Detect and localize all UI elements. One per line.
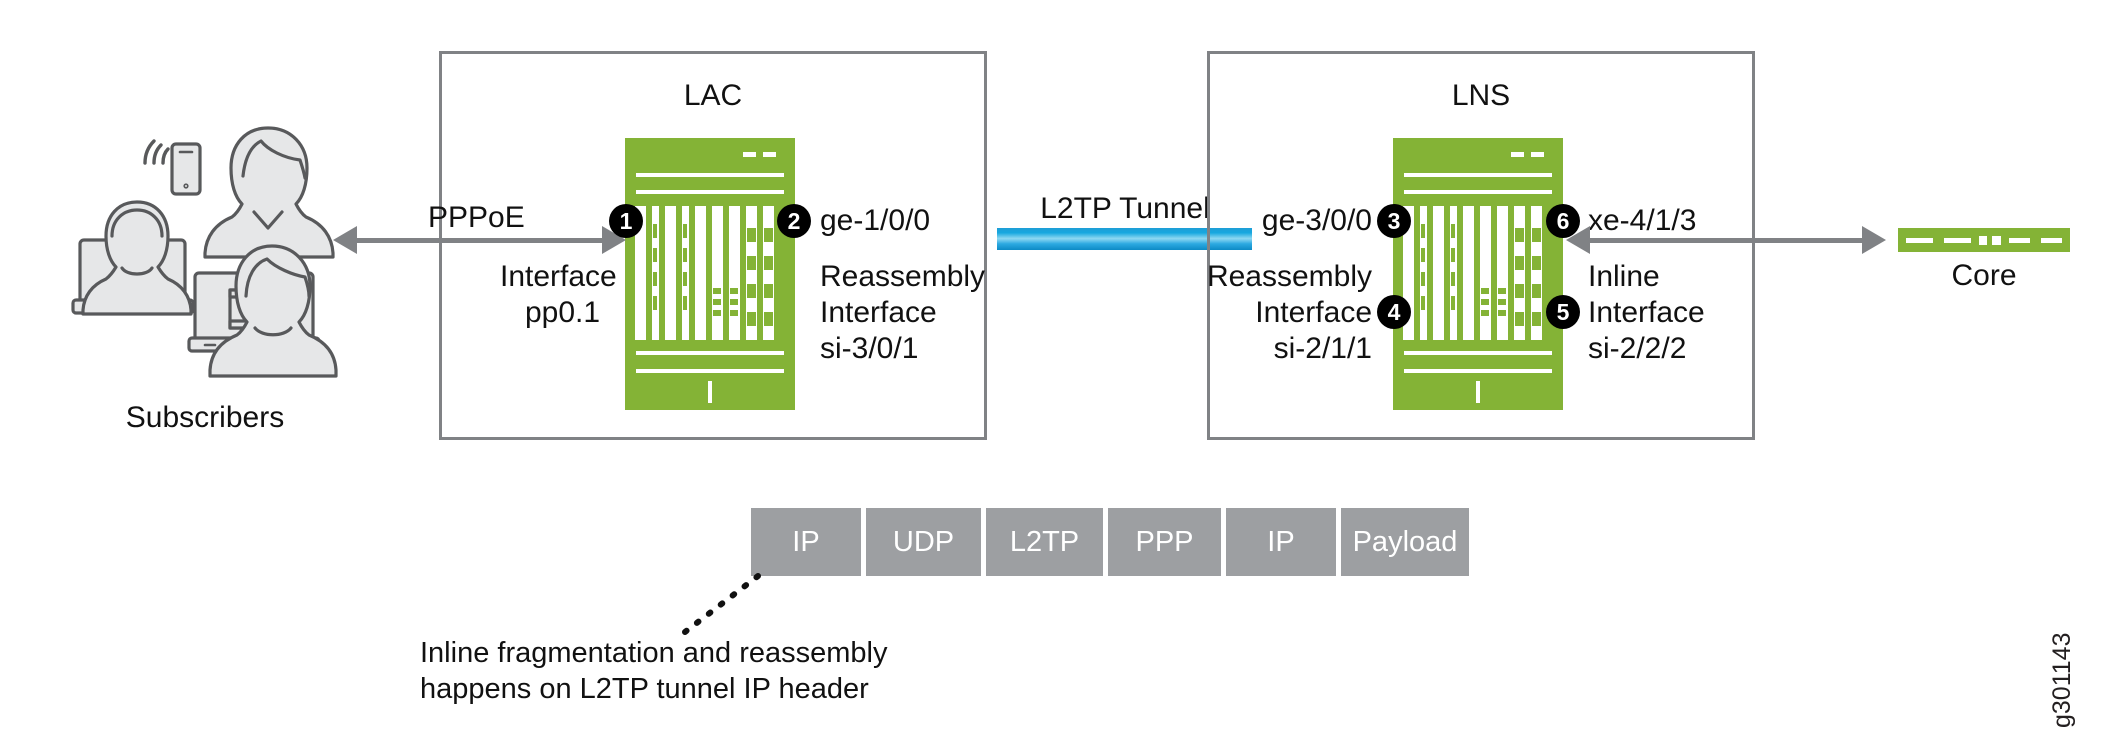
packet-field-l2tp: L2TP	[986, 508, 1103, 576]
core-label: Core	[1898, 258, 2070, 294]
packet-field-ppp: PPP	[1108, 508, 1221, 576]
lns-reassembly-line3: si-2/1/1	[1180, 331, 1372, 367]
pppoe-arrow-left	[333, 226, 357, 254]
subscribers-group	[55, 100, 355, 400]
core-led-2	[1992, 236, 2001, 245]
lac-title: LAC	[439, 78, 987, 114]
mobile-phone-icon	[172, 144, 200, 194]
packet-field-ip-outer: IP	[751, 508, 861, 576]
core-bar-4	[2038, 235, 2065, 246]
lac-reassembly-line3: si-3/0/1	[820, 331, 918, 367]
lns-interface-xe-4-1-3: xe-4/1/3	[1588, 203, 1696, 239]
subscribers-label: Subscribers	[60, 400, 350, 436]
lac-router-chassis	[625, 138, 795, 410]
core-arrow-right	[1862, 226, 1886, 254]
badge-6: 6	[1546, 204, 1580, 238]
lac-left-annotation-line2: pp0.1	[525, 295, 600, 331]
lns-inline-line2: Interface	[1588, 295, 1705, 331]
caption-line-1: Inline fragmentation and reassembly	[420, 636, 887, 671]
lac-reassembly-line1: Reassembly	[820, 259, 985, 295]
lns-reassembly-line1: Reassembly	[1180, 259, 1372, 295]
core-led-1	[1979, 236, 1988, 245]
caption-leader-line	[680, 570, 790, 640]
badge-3: 3	[1377, 204, 1411, 238]
diagram-canvas: Subscribers LAC	[0, 0, 2101, 749]
lac-reassembly-line2: Interface	[820, 295, 937, 331]
lns-interface-ge-3-0-0: ge-3/0/0	[1180, 203, 1372, 239]
lns-inline-line3: si-2/2/2	[1588, 331, 1686, 367]
badge-4: 4	[1377, 295, 1411, 329]
badge-1: 1	[609, 204, 643, 238]
badge-5: 5	[1546, 295, 1580, 329]
core-link-line	[1588, 238, 1878, 243]
core-bar-1	[1903, 235, 1936, 246]
badge-2: 2	[777, 204, 811, 238]
subscribers-illustration	[55, 100, 355, 400]
pppoe-label: PPPoE	[428, 200, 525, 236]
packet-field-payload: Payload	[1341, 508, 1469, 576]
core-bar-3	[2006, 235, 2033, 246]
caption-line-2: happens on L2TP tunnel IP header	[420, 672, 869, 707]
lns-router-chassis	[1393, 138, 1563, 410]
lns-reassembly-line2: Interface	[1180, 295, 1372, 331]
lns-title: LNS	[1207, 78, 1755, 114]
subscriber-person-1	[205, 128, 333, 257]
packet-header-row: IP UDP L2TP PPP IP Payload	[751, 508, 1469, 576]
lac-left-annotation-line1: Interface	[500, 259, 617, 295]
packet-field-udp: UDP	[866, 508, 981, 576]
lns-inline-line1: Inline	[1588, 259, 1660, 295]
lac-interface-ge-1-0-0: ge-1/0/0	[820, 203, 930, 239]
core-switch-icon	[1898, 228, 2070, 252]
pppoe-link-line	[356, 238, 618, 243]
core-bar-2	[1941, 235, 1974, 246]
wifi-waves-icon	[145, 141, 168, 163]
figure-id-watermark: g301143	[2048, 633, 2077, 728]
packet-field-ip-inner: IP	[1226, 508, 1336, 576]
